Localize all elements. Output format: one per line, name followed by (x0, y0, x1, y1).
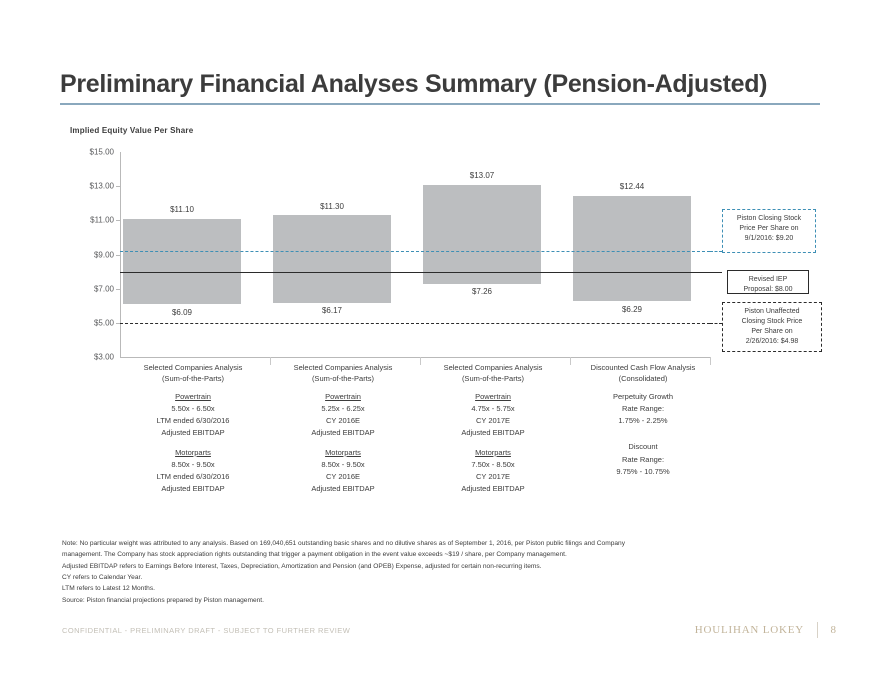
y-axis-tick-15: $15.00 (90, 148, 114, 157)
method-2-seg1-head: Powertrain (311, 391, 374, 403)
category-label-3-line1: Selected Companies Analysis (444, 362, 543, 373)
reference-line-stub-iep-proposal (710, 272, 722, 273)
methodology-column-3: Powertrain 4.75x - 5.75x CY 2017E Adjust… (461, 391, 524, 495)
category-label-2-line1: Selected Companies Analysis (294, 362, 393, 373)
method-4-seg1-head: Perpetuity Growth (613, 391, 673, 403)
category-label-4: Discounted Cash Flow Analysis (Consolida… (591, 362, 696, 385)
method-1-seg1-period: LTM ended 6/30/2016 (157, 415, 230, 427)
y-axis-tick-9: $9.00 (94, 250, 114, 259)
method-3-seg2-period: CY 2017E (461, 471, 524, 483)
method-3-seg2-head: Motorparts (461, 447, 524, 459)
method-spacer (461, 440, 524, 447)
callout-closing-stock-price: Piston Closing Stock Price Per Share on … (722, 209, 816, 253)
footnote-line-2: management. The Company has stock apprec… (62, 549, 852, 560)
callout-closing-line3: 9/1/2016: $9.20 (726, 234, 812, 244)
chart-subtitle: Implied Equity Value Per Share (70, 126, 193, 135)
y-axis-tick-5: $5.00 (94, 318, 114, 327)
reference-line-closing-price (120, 251, 710, 252)
bar-high-label-4: $12.44 (620, 182, 644, 191)
x-axis-divider (570, 357, 571, 365)
category-label-1-line1: Selected Companies Analysis (144, 362, 243, 373)
reference-line-unaffected-price (120, 323, 710, 324)
callout-unaffected-line4: 2/26/2016: $4.98 (726, 337, 818, 347)
callout-iep-line2: Proposal: $8.00 (731, 285, 805, 295)
method-2-seg1-range: 5.25x - 6.25x (311, 403, 374, 415)
footnote-line-3: Adjusted EBITDAP refers to Earnings Befo… (62, 561, 852, 572)
category-label-3: Selected Companies Analysis (Sum-of-the-… (444, 362, 543, 385)
method-1-seg2-metric: Adjusted EBITDAP (157, 483, 230, 495)
x-axis-divider (420, 357, 421, 365)
methodology-column-1: Powertrain 5.50x - 6.50x LTM ended 6/30/… (157, 391, 230, 495)
method-4-seg2-period: 9.75% - 10.75% (613, 466, 673, 478)
method-spacer (613, 427, 673, 434)
method-2-seg2-metric: Adjusted EBITDAP (311, 483, 374, 495)
category-label-1-line2: (Sum-of-the-Parts) (144, 373, 243, 384)
bar-low-label-2: $6.17 (322, 306, 342, 315)
callout-closing-line2: Price Per Share on (726, 224, 812, 234)
method-3-seg1-metric: Adjusted EBITDAP (461, 427, 524, 439)
bar-range-2 (273, 215, 391, 303)
y-tick-mark (116, 186, 120, 187)
callout-unaffected-line3: Per Share on (726, 327, 818, 337)
footnote-line-4: CY refers to Calendar Year. (62, 572, 852, 583)
title-underline-rule (60, 103, 820, 105)
footer-divider (817, 622, 818, 638)
footer-confidentiality-notice: CONFIDENTIAL - PRELIMINARY DRAFT - SUBJE… (62, 626, 350, 635)
method-3-seg2-metric: Adjusted EBITDAP (461, 483, 524, 495)
callout-revised-iep-proposal: Revised IEP Proposal: $8.00 (727, 270, 809, 294)
callout-unaffected-line1: Piston Unaffected (726, 307, 818, 317)
method-spacer (157, 440, 230, 447)
bar-range-1 (123, 219, 241, 305)
method-3-seg2-range: 7.50x - 8.50x (461, 459, 524, 471)
method-2-seg2-head: Motorparts (311, 447, 374, 459)
y-axis-tick-3: $3.00 (94, 353, 114, 362)
bar-low-label-1: $6.09 (172, 308, 192, 317)
footer-page-number: 8 (831, 624, 837, 636)
y-tick-mark (116, 220, 120, 221)
x-axis-divider (270, 357, 271, 365)
category-label-2: Selected Companies Analysis (Sum-of-the-… (294, 362, 393, 385)
method-spacer (613, 434, 673, 441)
methodology-column-4: Perpetuity Growth Rate Range: 1.75% - 2.… (613, 391, 673, 478)
method-1-seg1-range: 5.50x - 6.50x (157, 403, 230, 415)
y-tick-mark (116, 289, 120, 290)
method-4-seg2-range: Rate Range: (613, 454, 673, 466)
method-3-seg1-range: 4.75x - 5.75x (461, 403, 524, 415)
footnote-line-1: Note: No particular weight was attribute… (62, 538, 852, 549)
method-4-seg1-range: Rate Range: (613, 403, 673, 415)
x-axis-divider (710, 357, 711, 365)
method-1-seg1-metric: Adjusted EBITDAP (157, 427, 230, 439)
method-3-seg1-period: CY 2017E (461, 415, 524, 427)
bar-high-label-2: $11.30 (320, 202, 344, 211)
footer-brand-logo: HOULIHAN LOKEY (695, 624, 804, 636)
reference-line-iep-proposal (120, 272, 710, 273)
category-label-3-line2: (Sum-of-the-Parts) (444, 373, 543, 384)
bar-high-label-1: $11.10 (170, 205, 194, 214)
bar-low-label-3: $7.26 (472, 287, 492, 296)
page-title: Preliminary Financial Analyses Summary (… (60, 70, 820, 99)
y-axis-tick-13: $13.00 (90, 182, 114, 191)
method-1-seg2-range: 8.50x - 9.50x (157, 459, 230, 471)
category-label-4-line2: (Consolidated) (591, 373, 696, 384)
category-label-1: Selected Companies Analysis (Sum-of-the-… (144, 362, 243, 385)
y-axis-tick-11: $11.00 (90, 216, 114, 225)
chart-plot-area: $15.00 $13.00 $11.00 $9.00 $7.00 $5.00 $… (120, 152, 710, 357)
bar-low-label-4: $6.29 (622, 305, 642, 314)
bar-range-3 (423, 185, 541, 284)
bar-range-4 (573, 196, 691, 301)
method-spacer (311, 440, 374, 447)
method-4-seg2-head: Discount (613, 441, 673, 453)
reference-line-stub-unaffected-price (710, 323, 722, 324)
method-3-seg1-head: Powertrain (461, 391, 524, 403)
method-2-seg1-period: CY 2016E (311, 415, 374, 427)
y-tick-mark (116, 255, 120, 256)
method-2-seg2-period: CY 2016E (311, 471, 374, 483)
callout-unaffected-line2: Closing Stock Price (726, 317, 818, 327)
callout-unaffected-stock-price: Piston Unaffected Closing Stock Price Pe… (722, 302, 822, 352)
category-label-2-line2: (Sum-of-the-Parts) (294, 373, 393, 384)
footnotes: Note: No particular weight was attribute… (62, 538, 852, 606)
y-axis-tick-7: $7.00 (94, 284, 114, 293)
x-axis-line (120, 357, 710, 358)
bar-high-label-3: $13.07 (470, 171, 494, 180)
footnote-line-6: Source: Piston financial projections pre… (62, 595, 852, 606)
method-1-seg2-period: LTM ended 6/30/2016 (157, 471, 230, 483)
methodology-column-2: Powertrain 5.25x - 6.25x CY 2016E Adjust… (311, 391, 374, 495)
footnote-line-5: LTM refers to Latest 12 Months. (62, 583, 852, 594)
method-4-seg1-period: 1.75% - 2.25% (613, 415, 673, 427)
method-1-seg1-head: Powertrain (157, 391, 230, 403)
method-2-seg1-metric: Adjusted EBITDAP (311, 427, 374, 439)
callout-iep-line1: Revised IEP (731, 275, 805, 285)
category-label-4-line1: Discounted Cash Flow Analysis (591, 362, 696, 373)
callout-closing-line1: Piston Closing Stock (726, 214, 812, 224)
method-1-seg2-head: Motorparts (157, 447, 230, 459)
reference-line-stub-closing-price (710, 251, 722, 252)
method-2-seg2-range: 8.50x - 9.50x (311, 459, 374, 471)
